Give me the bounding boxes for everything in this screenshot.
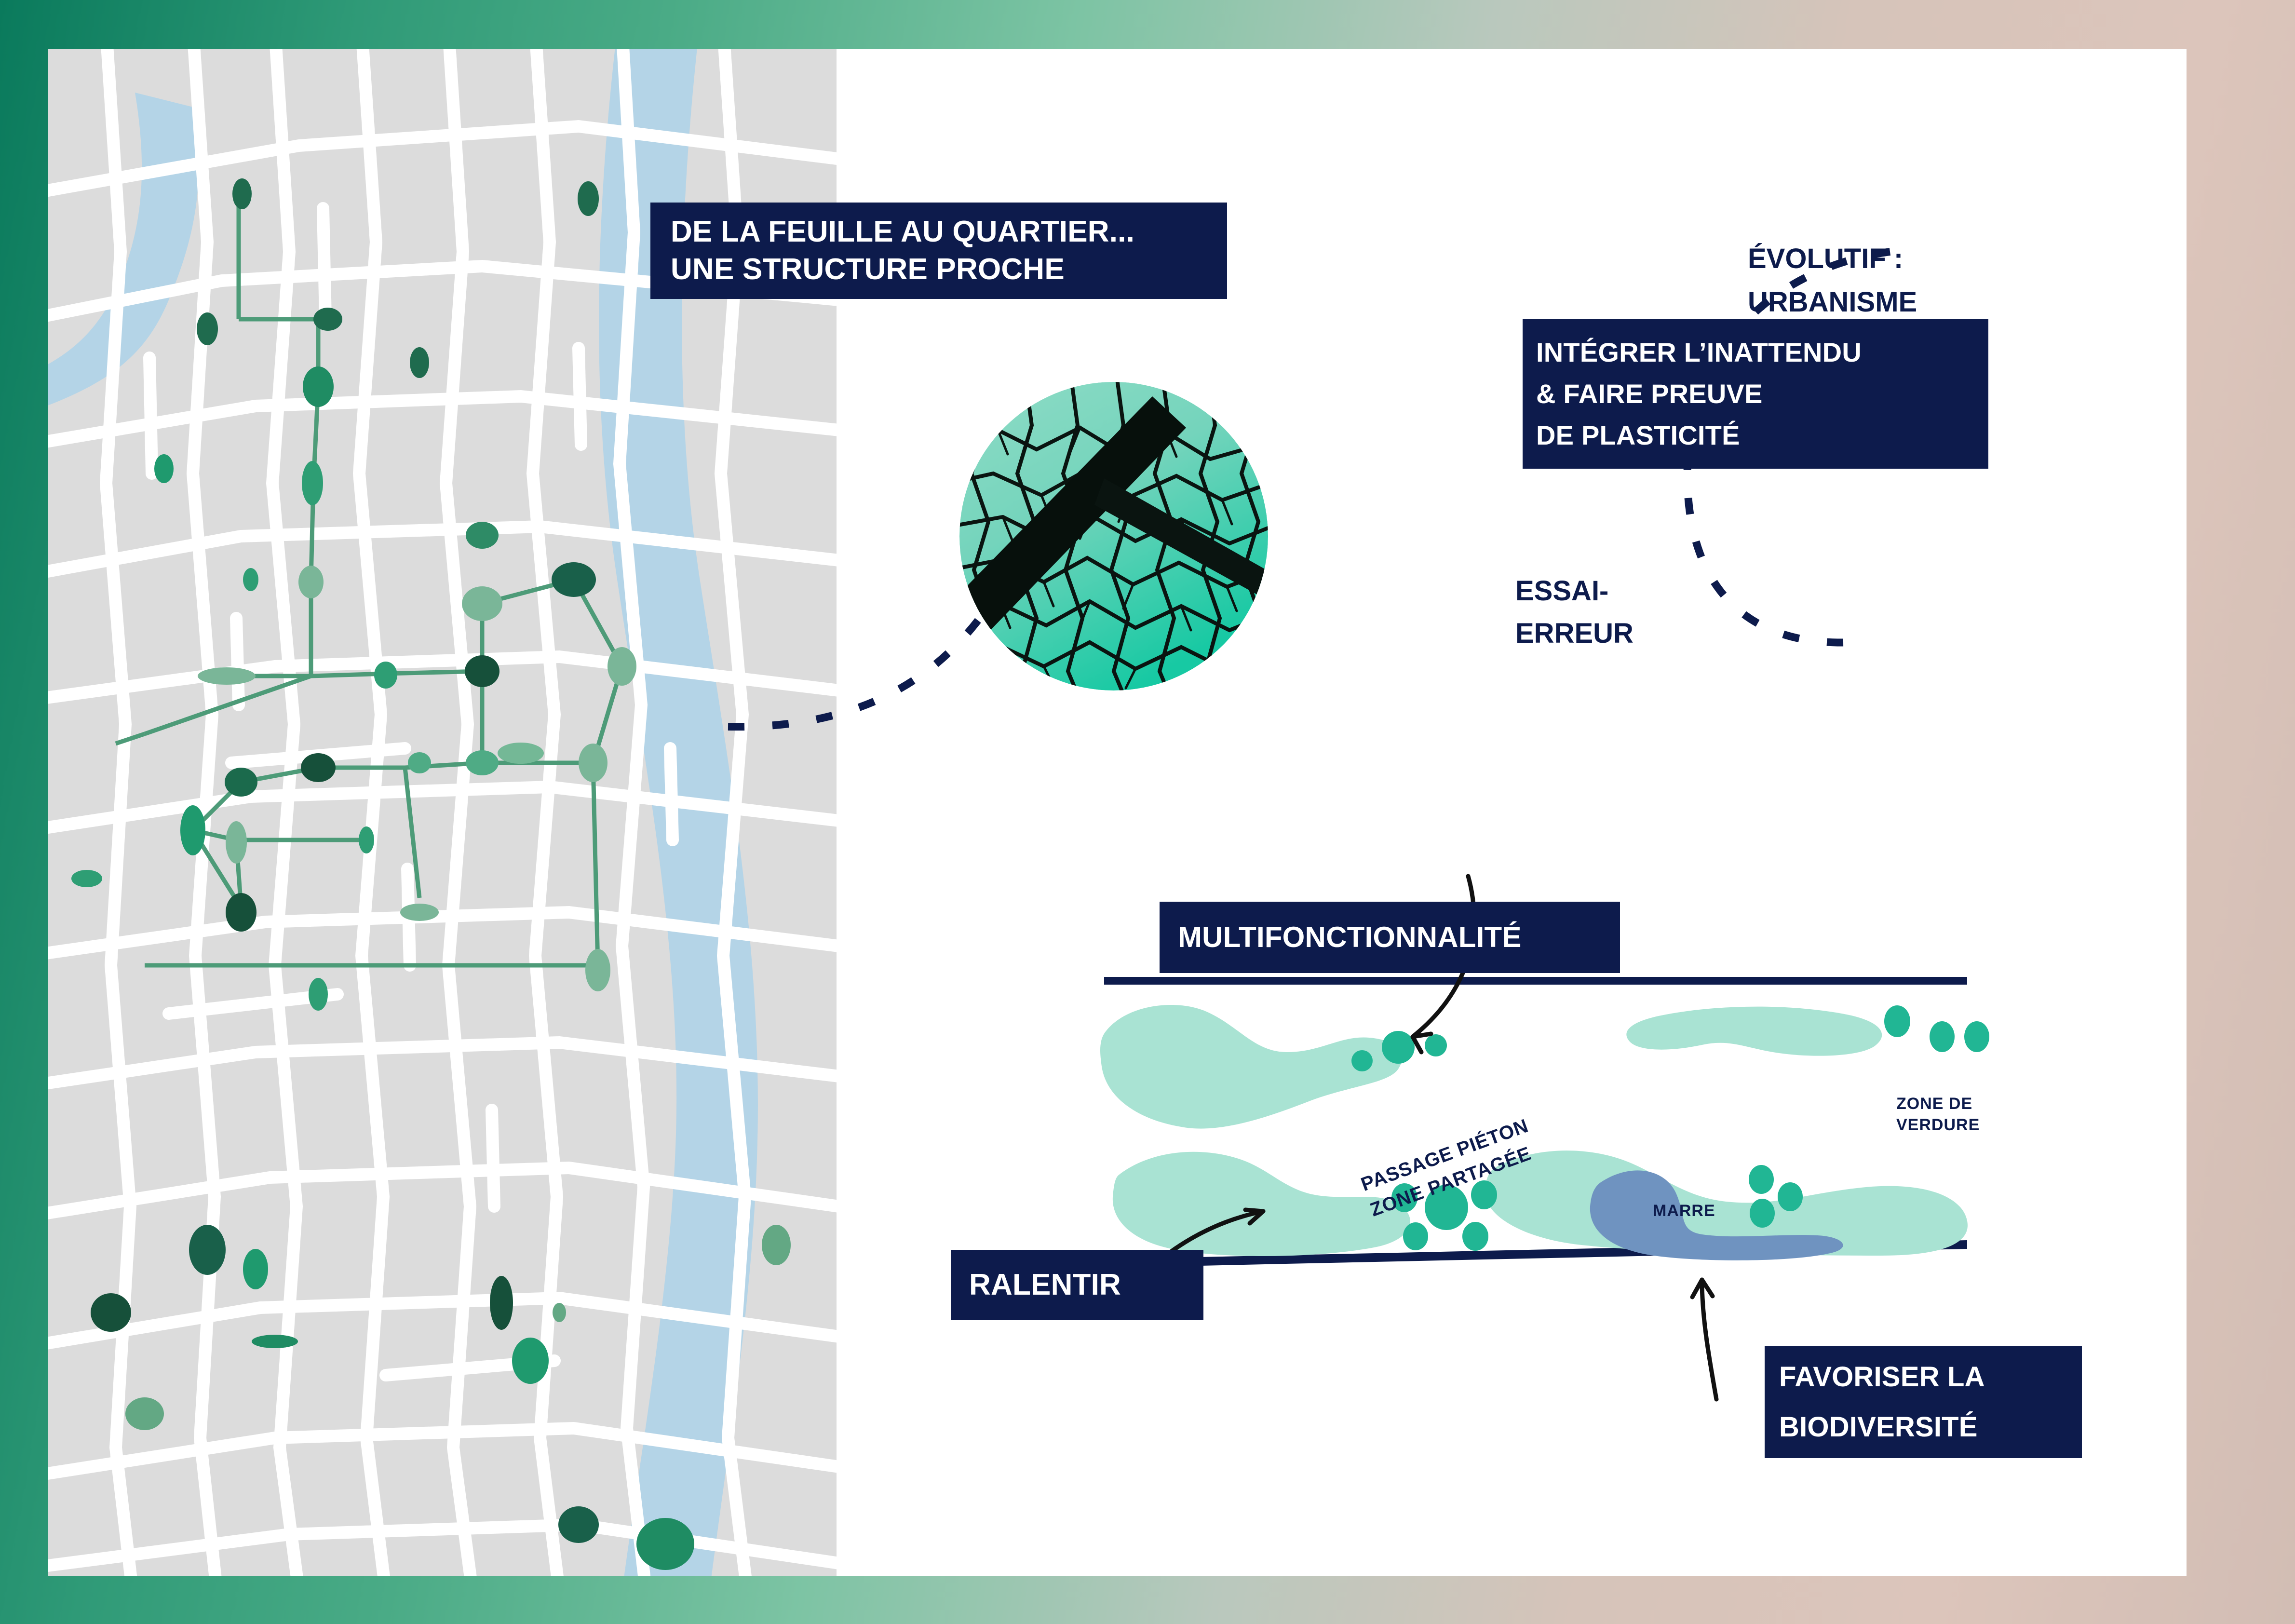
leaf-vein-image <box>959 382 1268 690</box>
biodiversite-box: FAVORISER LA BIODIVERSITÉ <box>1765 1346 2082 1458</box>
essai-line-1: ESSAI- <box>1515 570 1633 612</box>
plasticite-box: INTÉGRER L’INATTENDU & FAIRE PREUVE DE P… <box>1523 319 1988 469</box>
ralentir-box: RALENTIR <box>951 1250 1203 1320</box>
ralentir-text: RALENTIR <box>969 1250 1203 1320</box>
slide-root: DE LA FEUILLE AU QUARTIER... UNE STRUCTU… <box>0 0 2295 1624</box>
multifonctionnalite-text: MULTIFONCTIONNALITÉ <box>1178 902 1620 973</box>
essai-erreur-label: ESSAI- ERREUR <box>1515 570 1633 655</box>
tree-dots-zone-verdure <box>1884 1005 1989 1052</box>
biodiversite-line-1: FAVORISER LA <box>1779 1352 2082 1402</box>
content-card: DE LA FEUILLE AU QUARTIER... UNE STRUCTU… <box>48 49 2187 1576</box>
zone-verdure-line-2: VERDURE <box>1896 1114 1980 1136</box>
title-box: DE LA FEUILLE AU QUARTIER... UNE STRUCTU… <box>650 203 1227 299</box>
zone-verdure-label: ZONE DE VERDURE <box>1896 1093 1980 1136</box>
marre-text: MARRE <box>1653 1201 1715 1221</box>
plasticite-line-2: & FAIRE PREUVE <box>1536 373 1988 415</box>
zone-verdure-line-1: ZONE DE <box>1896 1093 1980 1114</box>
biodiversite-line-2: BIODIVERSITÉ <box>1779 1402 2082 1452</box>
plasticite-line-3: DE PLASTICITÉ <box>1536 415 1988 456</box>
street-section-diagram <box>1061 907 2121 1390</box>
green-blob-lower-left <box>1113 1152 1410 1256</box>
essai-line-2: ERREUR <box>1515 612 1633 655</box>
plasticite-line-1: INTÉGRER L’INATTENDU <box>1536 332 1988 373</box>
marre-label: MARRE <box>1653 1201 1715 1221</box>
street-edge-top <box>1104 977 1967 985</box>
arrow-biodiversite <box>1692 1280 1716 1399</box>
multifonctionnalite-box: MULTIFONCTIONNALITÉ <box>1160 902 1620 973</box>
leaf-vein-circle[interactable] <box>959 382 1268 690</box>
title-line-1: DE LA FEUILLE AU QUARTIER... <box>671 213 1227 251</box>
green-blob-upper-right <box>1626 1007 1882 1056</box>
evolutif-line-1: ÉVOLUTIF : <box>1748 237 1917 281</box>
title-line-2: UNE STRUCTURE PROCHE <box>671 251 1227 288</box>
evolutif-line-2: URBANISME <box>1748 281 1917 324</box>
